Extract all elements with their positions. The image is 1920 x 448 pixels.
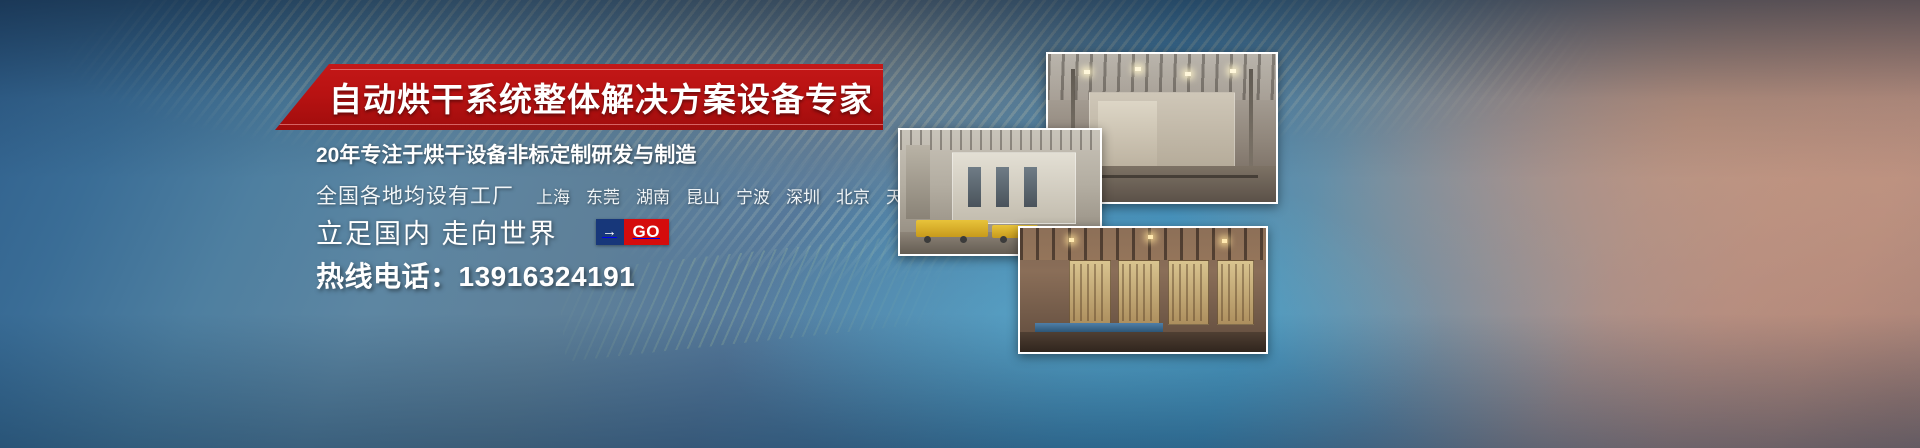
photo-b-wheel xyxy=(1000,236,1007,243)
factories-lead-text: 全国各地均设有工厂 xyxy=(316,180,514,210)
photo-c-rail xyxy=(1035,323,1163,332)
city-item: 北京 xyxy=(836,183,870,208)
city-item: 宁波 xyxy=(736,183,770,208)
photo-b-transfer-cart xyxy=(916,220,988,237)
photo-c-floor xyxy=(1020,332,1266,352)
photo-a-column xyxy=(1249,69,1253,173)
ceiling-lamp-icon xyxy=(1185,72,1191,76)
hotline-text: 热线电话：13916324191 xyxy=(316,255,635,295)
ceiling-lamp-icon xyxy=(1230,69,1236,73)
city-list: 上海 东莞 湖南 昆山 宁波 深圳 北京 天津 xyxy=(536,183,936,208)
ceiling-lamp-icon xyxy=(1148,235,1153,239)
city-item: 东莞 xyxy=(586,183,620,208)
city-item: 昆山 xyxy=(686,183,720,208)
photo-a-panel xyxy=(1098,101,1157,166)
ceiling-lamp-icon xyxy=(1135,67,1141,71)
city-item: 上海 xyxy=(536,183,570,208)
photo-b-roof xyxy=(900,130,1100,150)
photo-c-stack xyxy=(1168,260,1210,324)
ceiling-lamp-icon xyxy=(1069,238,1074,242)
photo-c-stack xyxy=(1118,260,1160,324)
photo-c-stack xyxy=(1069,260,1111,324)
drying-kiln-photo xyxy=(1018,226,1268,354)
slogan-text: 立足国内 走向世界 xyxy=(316,212,558,251)
go-button[interactable]: → GO xyxy=(596,219,669,245)
arrow-right-icon: → xyxy=(596,219,624,245)
go-button-label: GO xyxy=(624,219,669,245)
photo-b-wheel xyxy=(960,236,967,243)
ceiling-lamp-icon xyxy=(1222,239,1227,243)
slogan-line: 立足国内 走向世界 → GO xyxy=(316,212,669,251)
photo-c-stack xyxy=(1217,260,1254,324)
factories-line: 全国各地均设有工厂 上海 东莞 湖南 昆山 宁波 深圳 北京 天津 xyxy=(316,180,936,210)
photo-b-tower xyxy=(906,145,930,219)
city-item: 湖南 xyxy=(636,183,670,208)
photo-c-roof-beams xyxy=(1020,228,1266,260)
city-item: 深圳 xyxy=(786,183,820,208)
subtitle-text: 20年专注于烘干设备非标定制研发与制造 xyxy=(316,139,696,169)
photo-b-door xyxy=(1024,167,1037,207)
ceiling-lamp-icon xyxy=(1084,70,1090,74)
photo-b-door xyxy=(996,167,1009,207)
photo-b-door xyxy=(968,167,981,207)
headline-text: 自动烘干系统整体解决方案设备专家 xyxy=(329,64,873,130)
promo-banner: 自动烘干系统整体解决方案设备专家 20年专注于烘干设备非标定制研发与制造 全国各… xyxy=(0,0,1920,448)
photo-b-wheel xyxy=(924,236,931,243)
